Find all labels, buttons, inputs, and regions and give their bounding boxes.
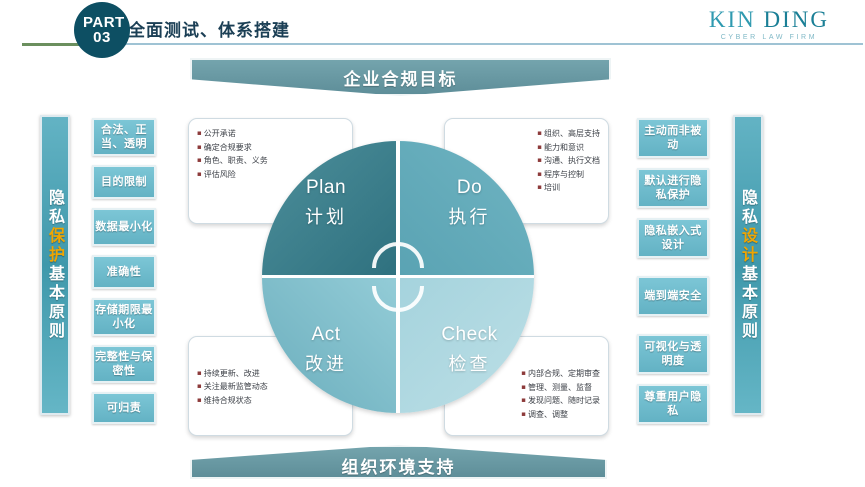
pdca-check-cn: 检查: [449, 350, 491, 376]
left-principle-item-3[interactable]: 准确性: [92, 255, 156, 289]
plan-bullet-list: 公开承诺确定合规要求角色、职责、义务评估风险: [197, 127, 268, 181]
principle-label: 合法、正当、透明: [94, 123, 154, 151]
logo-tagline: CYBER LAW FIRM: [709, 34, 829, 41]
list-item: 评估风险: [197, 168, 268, 182]
header-rule: [118, 43, 863, 45]
pdca-plan-cn: 计划: [305, 203, 347, 229]
principle-label: 准确性: [107, 265, 142, 279]
principle-label: 端到端安全: [644, 289, 702, 303]
list-item: 培训: [537, 181, 600, 195]
pdca-quadrant-do[interactable]: Do 执行: [398, 141, 534, 277]
pdca-quadrant-check[interactable]: Check 检查: [398, 277, 534, 413]
principle-label: 默认进行隐私保护: [639, 174, 707, 202]
pdca-do-en: Do: [457, 177, 482, 199]
left-title-post: 基本原则: [46, 265, 65, 341]
logo-word-1: KIN: [709, 7, 756, 32]
pdca-quadrant-plan[interactable]: Plan 计划: [262, 141, 398, 277]
list-item: 组织、高层支持: [537, 127, 600, 141]
left-principles-title: 隐私保护基本原则: [45, 189, 65, 341]
right-title-post: 基本原则: [739, 265, 758, 341]
left-principle-item-2[interactable]: 数据最小化: [92, 208, 156, 246]
act-bullet-list: 持续更新、改进关注最新监管动态维持合规状态: [197, 367, 268, 408]
logo-wordmark: KIN DING: [709, 8, 829, 32]
slide-canvas: PART 03 全面测试、体系搭建 KIN DING CYBER LAW FIR…: [0, 0, 865, 487]
principle-label: 数据最小化: [95, 220, 153, 234]
left-principle-item-5[interactable]: 完整性与保密性: [92, 345, 156, 383]
right-principle-item-5[interactable]: 尊重用户隐私: [637, 384, 709, 424]
do-bullet-list: 组织、高层支持能力和意识沟通、执行文档程序与控制培训: [537, 127, 600, 195]
right-title-highlight: 设计: [739, 227, 758, 265]
principle-label: 尊重用户隐私: [639, 390, 707, 418]
right-principles-title: 隐私设计基本原则: [738, 189, 758, 341]
left-principle-item-4[interactable]: 存储期限最小化: [92, 298, 156, 336]
list-item: 持续更新、改进: [197, 367, 268, 381]
right-principle-item-4[interactable]: 可视化与透明度: [637, 334, 709, 374]
right-title-pre: 隐私: [739, 189, 758, 227]
pdca-quadrant-act[interactable]: Act 改进: [262, 277, 398, 413]
principle-label: 隐私嵌入式设计: [639, 224, 707, 252]
list-item: 关注最新监管动态: [197, 380, 268, 394]
principle-label: 主动而非被动: [639, 124, 707, 152]
list-item: 确定合规要求: [197, 141, 268, 155]
list-item: 维持合规状态: [197, 394, 268, 408]
right-principle-item-2[interactable]: 隐私嵌入式设计: [637, 218, 709, 258]
left-principles-bar: 隐私保护基本原则: [40, 115, 70, 415]
pdca-divider-horizontal: [262, 276, 534, 278]
list-item: 公开承诺: [197, 127, 268, 141]
banner-bottom-support: 组织环境支持: [190, 445, 607, 479]
list-item: 能力和意识: [537, 141, 600, 155]
left-title-highlight: 保护: [46, 227, 65, 265]
list-item: 角色、职责、义务: [197, 154, 268, 168]
right-principles-bar: 隐私设计基本原则: [733, 115, 763, 415]
right-principle-item-0[interactable]: 主动而非被动: [637, 118, 709, 158]
pdca-check-en: Check: [441, 324, 497, 346]
principle-label: 存储期限最小化: [94, 303, 154, 331]
logo-word-2: DING: [764, 7, 830, 32]
principle-label: 可视化与透明度: [639, 340, 707, 368]
pdca-act-cn: 改进: [305, 350, 347, 376]
part-number-label: PART 03: [83, 15, 121, 45]
page-title: 全面测试、体系搭建: [128, 16, 290, 41]
principle-label: 目的限制: [101, 175, 147, 189]
right-principle-item-1[interactable]: 默认进行隐私保护: [637, 168, 709, 208]
principle-label: 可归责: [107, 401, 142, 415]
list-item: 程序与控制: [537, 168, 600, 182]
banner-top-goal: 企业合规目标: [190, 58, 611, 96]
right-principle-item-3[interactable]: 端到端安全: [637, 276, 709, 316]
left-principle-item-1[interactable]: 目的限制: [92, 165, 156, 199]
list-item: 沟通、执行文档: [537, 154, 600, 168]
left-principle-item-6[interactable]: 可归责: [92, 392, 156, 424]
principle-label: 完整性与保密性: [94, 350, 154, 378]
pdca-act-en: Act: [312, 324, 341, 346]
brand-logo: KIN DING CYBER LAW FIRM: [709, 8, 829, 41]
pdca-do-cn: 执行: [449, 203, 491, 229]
pdca-plan-en: Plan: [306, 177, 346, 199]
left-title-pre: 隐私: [46, 189, 65, 227]
slide-header: PART 03 全面测试、体系搭建 KIN DING CYBER LAW FIR…: [0, 0, 865, 56]
left-principle-item-0[interactable]: 合法、正当、透明: [92, 118, 156, 156]
part-number-badge: PART 03: [74, 2, 130, 58]
